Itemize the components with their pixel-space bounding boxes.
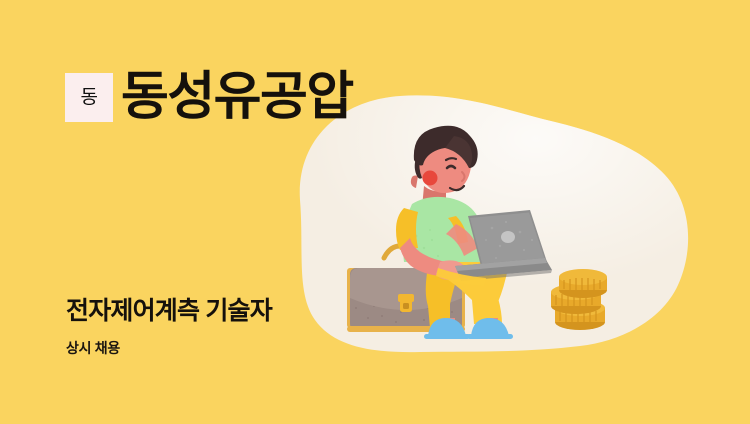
person-body <box>396 186 488 280</box>
company-name: 동성유공압 <box>121 66 353 128</box>
job-title: 전자제어계측 기술자 <box>66 296 272 326</box>
background-blob <box>290 90 700 360</box>
laptop <box>455 210 552 281</box>
recruit-status: 상시 채용 <box>66 339 120 357</box>
briefcase <box>347 246 465 332</box>
person-head <box>411 126 478 193</box>
coin-stack <box>551 269 607 330</box>
company-logo-char: 동 <box>81 88 98 107</box>
company-logo-badge: 동 <box>65 73 113 122</box>
man-working-on-laptop-illustration <box>0 0 750 424</box>
job-posting-banner: 동 동성유공압 전자제어계측 기술자 상시 채용 <box>0 0 750 424</box>
person-shoes <box>424 318 513 339</box>
person-pants <box>426 244 509 338</box>
person-lap <box>436 268 486 286</box>
